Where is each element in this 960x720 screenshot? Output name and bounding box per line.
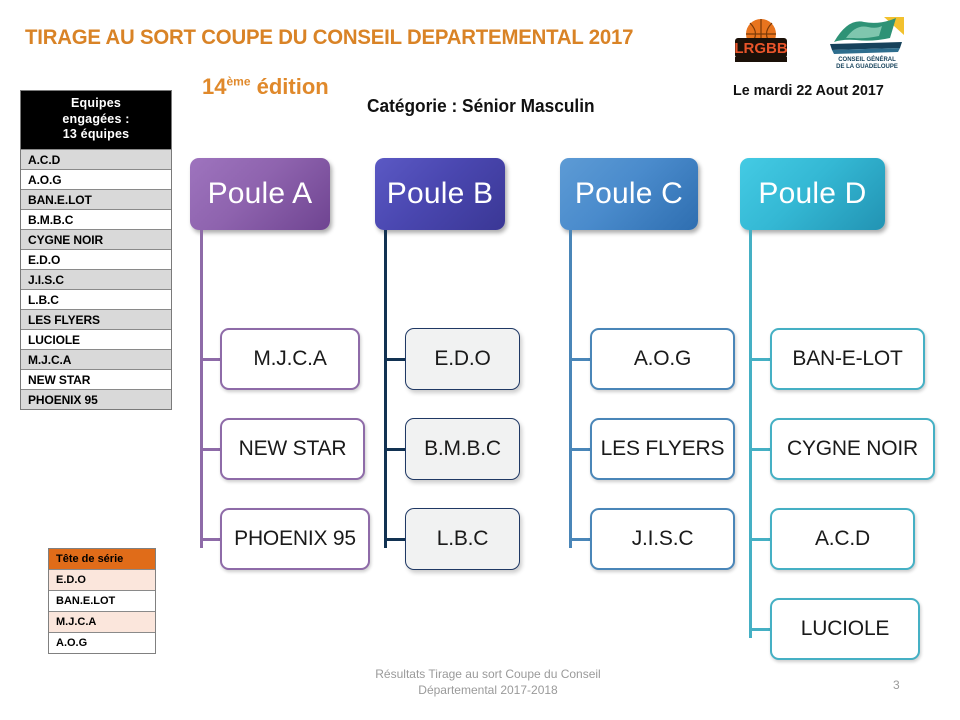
svg-text:LRGBB: LRGBB (734, 40, 787, 57)
footer-note-line1: Résultats Tirage au sort Coupe du Consei… (338, 666, 638, 682)
engaged-teams-header-line1: Equipes (23, 96, 169, 112)
page-title: TIRAGE AU SORT COUPE DU CONSEIL DEPARTEM… (25, 26, 633, 50)
engaged-teams-header: Equipes engagées : 13 équipes (21, 91, 171, 149)
seeded-teams-panel: Tête de série E.D.O BAN.E.LOT M.J.C.A A.… (48, 548, 156, 654)
event-date-label: Le mardi 22 Aout 2017 (733, 82, 884, 99)
poule-d-connector-stub (752, 538, 770, 541)
poule-d-header: Poule D (740, 158, 885, 230)
seed-list-item: BAN.E.LOT (49, 590, 155, 611)
poule-a-header: Poule A (190, 158, 330, 230)
conseil-general-guadeloupe-logo: CONSEIL GÉNÉRAL DE LA GUADELOUPE (824, 14, 910, 70)
poule-b-header: Poule B (375, 158, 505, 230)
poule-b-connector-stub (387, 448, 405, 451)
poule-a-connector-stub (203, 358, 220, 361)
poule-b-connector-stub (387, 358, 405, 361)
poule-d-team-box: CYGNE NOIR (770, 418, 935, 480)
conseil-general-line1: CONSEIL GÉNÉRAL (838, 55, 896, 63)
group-poule-b: Poule B E.D.O B.M.B.C L.B.C (375, 158, 505, 230)
conseil-general-line2: DE LA GUADELOUPE (836, 64, 898, 70)
conseil-general-logo-icon: CONSEIL GÉNÉRAL DE LA GUADELOUPE (824, 14, 910, 70)
group-poule-d: Poule D BAN-E-LOT CYGNE NOIR A.C.D LUCIO… (740, 158, 885, 230)
poule-c-team-box: J.I.S.C (590, 508, 735, 570)
poule-b-team-box: E.D.O (405, 328, 520, 390)
engaged-teams-panel: Equipes engagées : 13 équipes A.C.D A.O.… (20, 90, 172, 410)
engaged-teams-header-line2: engagées : (23, 112, 169, 128)
poule-d-team-box: LUCIOLE (770, 598, 920, 660)
poule-c-connector-spine (569, 230, 572, 548)
seeded-teams-header: Tête de série (49, 549, 155, 569)
poule-b-connector-stub (387, 538, 405, 541)
team-list-item: NEW STAR (21, 369, 171, 389)
poule-d-team-box: A.C.D (770, 508, 915, 570)
page-number: 3 (893, 678, 900, 692)
team-list-item: E.D.O (21, 249, 171, 269)
team-list-item: M.J.C.A (21, 349, 171, 369)
group-poule-c: Poule C A.O.G LES FLYERS J.I.S.C (560, 158, 698, 230)
footer-note-line2: Départemental 2017-2018 (338, 682, 638, 698)
poule-b-team-box: B.M.B.C (405, 418, 520, 480)
edition-number: 14 (202, 74, 226, 99)
poule-c-team-box: LES FLYERS (590, 418, 735, 480)
poule-a-connector-stub (203, 538, 220, 541)
edition-label: 14ème édition (202, 74, 329, 100)
poule-d-connector-stub (752, 628, 770, 631)
team-list-item: PHOENIX 95 (21, 389, 171, 409)
lrgbb-logo: LRGBB (727, 14, 795, 66)
poule-a-team-box: NEW STAR (220, 418, 365, 480)
seed-list-item: E.D.O (49, 569, 155, 590)
poule-d-connector-stub (752, 448, 770, 451)
poule-b-team-box: L.B.C (405, 508, 520, 570)
team-list-item: LUCIOLE (21, 329, 171, 349)
seed-list-item: M.J.C.A (49, 611, 155, 632)
poule-d-team-box: BAN-E-LOT (770, 328, 925, 390)
seed-list-item: A.O.G (49, 632, 155, 653)
poule-a-team-box: PHOENIX 95 (220, 508, 370, 570)
group-poule-a: Poule A M.J.C.A NEW STAR PHOENIX 95 (190, 158, 330, 230)
poule-c-header: Poule C (560, 158, 698, 230)
team-list-item: CYGNE NOIR (21, 229, 171, 249)
poule-c-team-box: A.O.G (590, 328, 735, 390)
team-list-item: B.M.B.C (21, 209, 171, 229)
engaged-teams-header-line3: 13 équipes (23, 127, 169, 143)
poule-a-team-box: M.J.C.A (220, 328, 360, 390)
team-list-item: L.B.C (21, 289, 171, 309)
poule-c-connector-stub (572, 448, 590, 451)
team-list-item: LES FLYERS (21, 309, 171, 329)
team-list-item: A.C.D (21, 149, 171, 169)
team-list-item: BAN.E.LOT (21, 189, 171, 209)
poule-d-connector-stub (752, 358, 770, 361)
poule-a-connector-stub (203, 448, 220, 451)
footer-note: Résultats Tirage au sort Coupe du Consei… (338, 666, 638, 698)
poule-c-connector-stub (572, 358, 590, 361)
poule-a-connector-spine (200, 230, 203, 548)
edition-suffix: ème (226, 75, 250, 89)
team-list-item: A.O.G (21, 169, 171, 189)
poule-d-connector-spine (749, 230, 752, 638)
team-list-item: J.I.S.C (21, 269, 171, 289)
edition-word: édition (251, 74, 329, 99)
category-label: Catégorie : Sénior Masculin (367, 96, 595, 117)
lrgbb-logo-icon: LRGBB (727, 14, 795, 66)
poule-b-connector-spine (384, 230, 387, 548)
poule-c-connector-stub (572, 538, 590, 541)
